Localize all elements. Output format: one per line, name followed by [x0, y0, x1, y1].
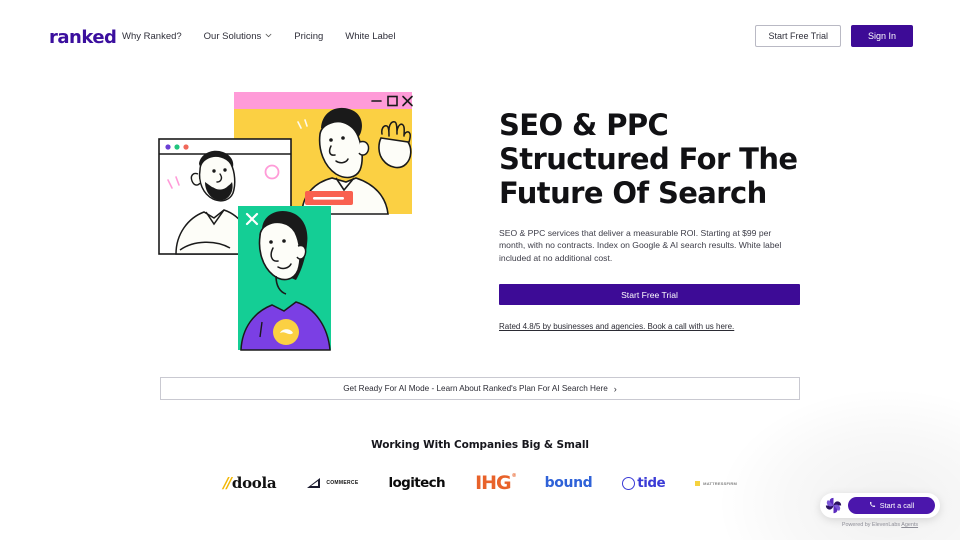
nav-item-pricing[interactable]: Pricing — [294, 31, 323, 42]
hero-illustration — [150, 90, 435, 352]
powered-by-text: Powered by ElevenLabs Agents — [820, 522, 940, 528]
chat-widget: Start a call Powered by ElevenLabs Agent… — [820, 493, 940, 528]
tide-circle-icon — [622, 477, 635, 490]
ihg-registered-mark: ® — [512, 473, 516, 479]
powered-prefix: Powered by ElevenLabs — [842, 522, 901, 528]
tide-wordmark: tide — [637, 475, 665, 491]
nav-label: White Label — [345, 31, 395, 42]
hero-content: SEO & PPC Structured For The Future Of S… — [499, 108, 809, 331]
nav-label: Why Ranked? — [122, 31, 182, 42]
sign-in-button[interactable]: Sign In — [851, 25, 913, 47]
mattressfirm-mark-icon — [695, 481, 700, 486]
client-logo-doola: // doola — [223, 470, 276, 496]
bound-wordmark: bound — [545, 475, 593, 491]
doola-wordmark: doola — [232, 474, 276, 492]
client-logos-row: // doola COMMERCE logitech IHG ® bound t… — [0, 468, 960, 498]
nav-item-our-solutions[interactable]: Our Solutions — [204, 31, 273, 42]
ihg-wordmark: IHG — [475, 472, 511, 494]
primary-nav: Why Ranked? Our Solutions Pricing White … — [122, 31, 395, 42]
client-logo-ihg: IHG ® — [475, 470, 515, 496]
page-title: SEO & PPC Structured For The Future Of S… — [499, 108, 809, 210]
hero-subcopy: SEO & PPC services that deliver a measur… — [499, 227, 796, 264]
start-a-call-button[interactable]: Start a call — [848, 497, 935, 514]
phone-icon — [869, 501, 876, 510]
headline-line-3: Future Of Search — [499, 176, 767, 210]
client-logo-logitech: logitech — [388, 470, 445, 496]
doola-slashes: // — [223, 474, 230, 492]
nav-item-white-label[interactable]: White Label — [345, 31, 395, 42]
site-header: ranked Why Ranked? Our Solutions Pricing… — [0, 0, 960, 73]
hero-start-free-trial-button[interactable]: Start Free Trial — [499, 284, 800, 305]
nav-item-why-ranked[interactable]: Why Ranked? — [122, 31, 182, 42]
headline-line-2: Structured For The — [499, 142, 797, 176]
client-logo-bigcommerce: COMMERCE — [306, 470, 358, 496]
clients-section-title: Working With Companies Big & Small — [0, 439, 960, 451]
nav-label: Our Solutions — [204, 31, 262, 42]
chevron-right-icon: › — [614, 384, 617, 394]
call-button-label: Start a call — [880, 501, 914, 510]
ai-banner-text: Get Ready For AI Mode - Learn About Rank… — [343, 384, 608, 393]
ai-mode-banner[interactable]: Get Ready For AI Mode - Learn About Rank… — [160, 377, 800, 400]
client-logo-bound: bound — [545, 470, 593, 496]
nav-label: Pricing — [294, 31, 323, 42]
agents-link[interactable]: Agents — [901, 522, 918, 528]
bigcommerce-mark-icon — [306, 478, 324, 489]
start-free-trial-button[interactable]: Start Free Trial — [755, 25, 841, 47]
header-actions: Start Free Trial Sign In — [755, 25, 913, 47]
video-call-illustration — [150, 90, 435, 352]
client-logo-tide: tide — [622, 470, 665, 496]
headline-line-1: SEO & PPC — [499, 108, 668, 142]
client-logo-mattressfirm: MATTRESSFIRM — [695, 470, 737, 496]
logitech-wordmark: logitech — [388, 475, 445, 491]
bigcommerce-wordmark: COMMERCE — [326, 480, 358, 486]
mattressfirm-wordmark: MATTRESSFIRM — [703, 481, 737, 486]
chat-pill: Start a call — [820, 493, 940, 518]
rated-review-link[interactable]: Rated 4.8/5 by businesses and agencies. … — [499, 322, 809, 331]
chevron-down-icon — [265, 32, 272, 39]
green-video-panel — [238, 206, 331, 350]
brand-logo[interactable]: ranked — [49, 27, 116, 48]
elevenlabs-avatar-icon — [825, 497, 842, 514]
